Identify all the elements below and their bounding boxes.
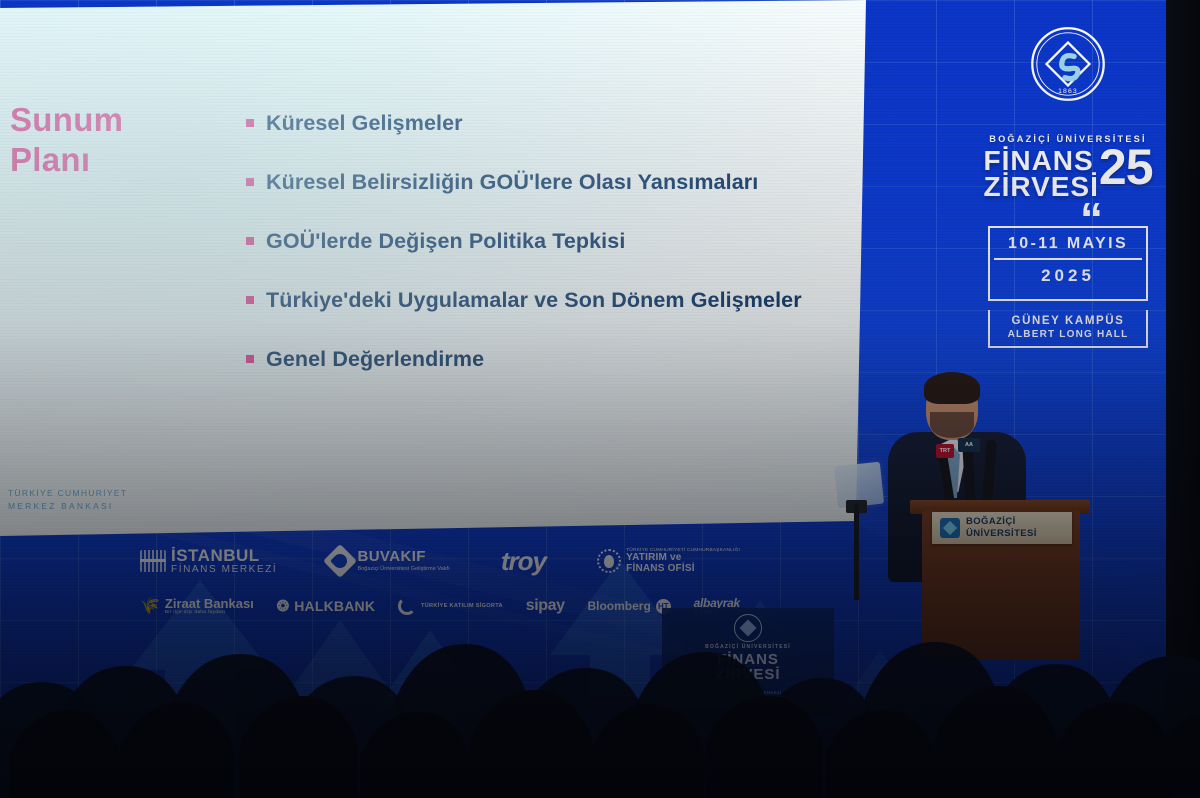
podium-plate-line-1: BOĞAZİÇİ (966, 516, 1037, 528)
speaker-beard (930, 412, 974, 438)
slide-title-line-1: Sunum (10, 100, 230, 140)
microphone-flag-aa: AA (958, 438, 980, 452)
list-item: Türkiye'deki Uygulamalar ve Son Dönem Ge… (246, 287, 866, 314)
speaker-hair (924, 372, 980, 404)
event-banner-title-row: FİNANS ZİRVESİ 25 (962, 146, 1174, 200)
list-item-label: Genel Değerlendirme (266, 347, 484, 371)
projected-slide: Sunum Planı Küresel Gelişmeler Küresel B… (0, 0, 880, 560)
event-banner-date-box: 10-11 MAYIS 2025 (988, 226, 1148, 301)
conference-stage: Sunum Planı Küresel Gelişmeler Küresel B… (0, 0, 1200, 798)
event-banner-venue-line-2: ALBERT LONG HALL (992, 329, 1144, 340)
slide-title: Sunum Planı (10, 100, 230, 181)
bogazici-university-seal-icon: 1863 (1030, 26, 1106, 102)
square-bullet-icon (246, 296, 254, 304)
slide-agenda-list: Küresel Gelişmeler Küresel Belirsizliğin… (246, 110, 866, 404)
event-banner-venue-line-1: GÜNEY KAMPÜS (992, 315, 1144, 327)
list-item-label: Türkiye'deki Uygulamalar ve Son Dönem Ge… (266, 288, 802, 312)
svg-text:1863: 1863 (1058, 88, 1078, 95)
podium-plate-line-2: ÜNİVERSİTESİ (966, 528, 1037, 540)
list-item-label: Küresel Gelişmeler (266, 111, 463, 135)
central-bank-logo: TÜRKİYE CUMHURİYET MERKEZ BANKASI (8, 487, 127, 513)
list-item: GOÜ'lerde Değişen Politika Tepkisi (246, 228, 866, 255)
event-banner-venue-box: GÜNEY KAMPÜS ALBERT LONG HALL (988, 310, 1148, 348)
list-item-label: Küresel Belirsizliğin GOÜ'lere Olası Yan… (266, 170, 758, 194)
square-bullet-icon (246, 178, 254, 186)
list-item-label: GOÜ'lerde Değişen Politika Tepkisi (266, 229, 625, 253)
podium-seal-icon (940, 518, 960, 538)
podium-name-plate: BOĞAZİÇİ ÜNİVERSİTESİ (932, 512, 1072, 544)
list-item: Küresel Belirsizliğin GOÜ'lere Olası Yan… (246, 169, 866, 196)
central-bank-logo-line-1: TÜRKİYE CUMHURİYET (8, 487, 127, 500)
audience-silhouettes (0, 558, 1200, 798)
microphone-flag-trt: TRT (936, 444, 954, 458)
event-banner-date: 10-11 MAYIS (994, 235, 1142, 260)
event-banner-edition: 25 (1099, 146, 1153, 189)
central-bank-logo-line-2: MERKEZ BANKASI (8, 500, 127, 513)
event-banner-title: FİNANS ZİRVESİ (983, 146, 1098, 200)
slide-title-line-2: Planı (10, 140, 230, 180)
list-item: Genel Değerlendirme (246, 346, 866, 373)
square-bullet-icon (246, 237, 254, 245)
event-banner-year: 2025 (994, 260, 1142, 293)
event-banner: 1863 BOĞAZİÇİ ÜNİVERSİTESİ FİNANS ZİRVES… (962, 22, 1174, 352)
list-item: Küresel Gelişmeler (246, 110, 866, 137)
event-banner-title-line-1: FİNANS (983, 148, 1098, 174)
square-bullet-icon (246, 355, 254, 363)
square-bullet-icon (246, 119, 254, 127)
